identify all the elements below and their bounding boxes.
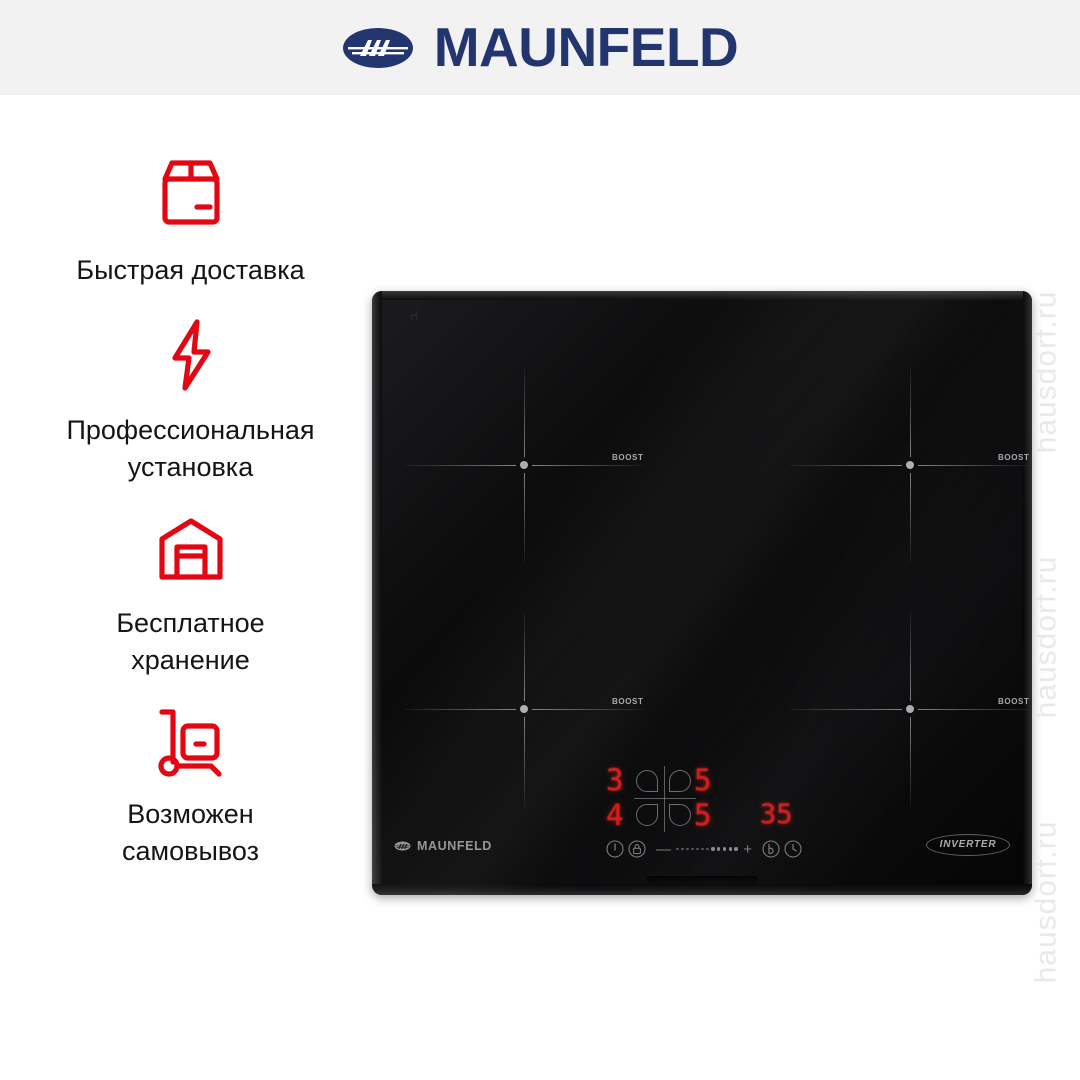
zone-center-dot <box>520 705 528 713</box>
boost-label: BOOST <box>998 697 1029 706</box>
zone-arm-top <box>910 611 911 701</box>
inverter-badge: INVERTER <box>926 834 1010 856</box>
boost-label: BOOST <box>612 453 643 462</box>
zone-arm-right <box>918 709 1030 710</box>
cooktop-bevel-bottom <box>372 884 1032 895</box>
page-title: MAUNFELD <box>434 20 739 75</box>
lock-icon[interactable] <box>626 838 648 860</box>
maunfeld-ellipse-logo-icon <box>394 841 411 851</box>
cooktop-control-panel: 3 5 4 5 35 <box>372 764 1032 884</box>
maunfeld-ellipse-logo-icon <box>342 27 414 69</box>
zone-arm-bottom <box>910 473 911 563</box>
zone-arm-right <box>918 465 1030 466</box>
increase-icon[interactable]: + <box>743 842 752 857</box>
zone-arm-top <box>524 611 525 701</box>
inverter-badge-text: INVERTER <box>940 840 997 850</box>
zone-position-indicator <box>634 766 696 832</box>
box-icon <box>148 150 234 236</box>
cooktop-product-image: ⑁ BOOST BOOST BOOST <box>372 291 1032 895</box>
zone-arm-right <box>532 465 644 466</box>
display-digit-rear-left: 3 <box>606 766 622 795</box>
zone-indicator-rear-right <box>669 770 691 792</box>
features-column: Быстрая доставка Профессиональная устано… <box>18 150 363 887</box>
feature-label: Быстрая доставка <box>76 252 304 288</box>
zone-arm-left <box>790 709 902 710</box>
feature-item-pickup: Возможен самовывоз <box>18 700 363 869</box>
zone-arm-top <box>524 367 525 457</box>
boost-label: BOOST <box>998 453 1029 462</box>
zone-arm-left <box>404 465 516 466</box>
feature-item-delivery: Быстрая доставка <box>18 150 363 288</box>
boost-label: BOOST <box>612 697 643 706</box>
cooktop-brand-text: MAUNFELD <box>417 840 492 853</box>
display-digit-front-right: 5 <box>694 801 710 830</box>
hand-truck-icon <box>145 700 237 780</box>
zone-indicator-rear-left <box>636 770 658 792</box>
display-timer-value: 35 <box>760 801 793 828</box>
zone-arm-bottom <box>524 473 525 563</box>
feature-item-installation: Профессиональная установка <box>18 314 363 485</box>
feature-label: Возможен самовывоз <box>122 796 259 869</box>
cooktop-bottom-vent <box>647 876 757 884</box>
zone-center-dot <box>906 705 914 713</box>
zone-indicator-front-right <box>669 804 691 826</box>
cooktop-bevel-top <box>372 291 1032 300</box>
decrease-icon[interactable]: — <box>656 842 671 857</box>
watermark-text: hausdorf.ru <box>1030 556 1064 719</box>
brand-header: MAUNFELD <box>0 0 1080 95</box>
warehouse-icon <box>148 509 234 589</box>
watermark-text: hausdorf.ru <box>1030 821 1064 984</box>
bridge-b-icon[interactable] <box>760 838 782 860</box>
feature-item-storage: Бесплатное хранение <box>18 509 363 678</box>
cooktop-brand: MAUNFELD <box>394 840 492 853</box>
power-icon[interactable] <box>604 838 626 860</box>
zone-center-dot <box>906 461 914 469</box>
led-display: 3 5 4 5 35 <box>604 764 834 834</box>
zone-arm-left <box>790 465 902 466</box>
zone-center-dot <box>520 461 528 469</box>
clock-icon[interactable] <box>782 838 804 860</box>
display-digit-front-left: 4 <box>606 801 622 830</box>
touch-controls-row: — + <box>604 834 804 864</box>
watermark-text: hausdorf.ru <box>1030 291 1064 454</box>
zone-indicator-divider-horizontal <box>634 798 696 799</box>
zone-arm-top <box>910 367 911 457</box>
zone-indicator-front-left <box>636 804 658 826</box>
level-slider[interactable]: — + <box>656 843 752 855</box>
feature-label: Бесплатное хранение <box>116 605 264 678</box>
slider-dots-icon <box>671 847 743 850</box>
feature-label: Профессиональная установка <box>66 412 314 485</box>
zone-arm-left <box>404 709 516 710</box>
cooktop-glass-surface: ⑁ BOOST BOOST BOOST <box>372 291 1032 895</box>
cooktop-corner-glyph: ⑁ <box>410 309 416 324</box>
lightning-icon <box>153 314 229 396</box>
display-digit-rear-right: 5 <box>694 766 710 795</box>
zone-arm-right <box>532 709 644 710</box>
